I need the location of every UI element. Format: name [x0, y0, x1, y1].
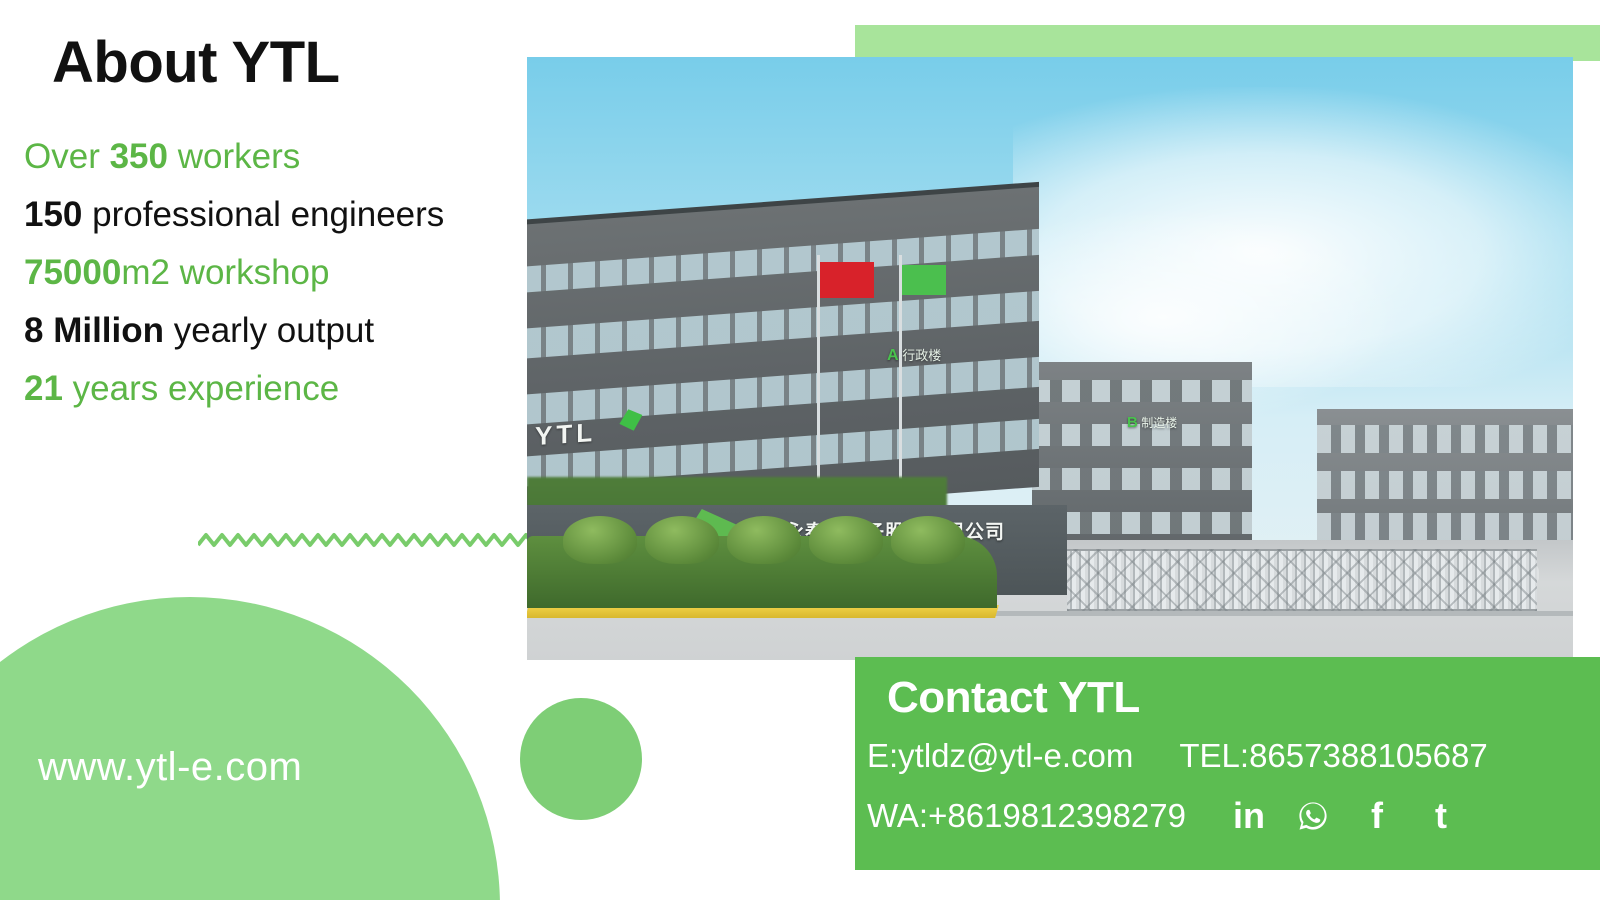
stat-prefix: Over — [24, 137, 110, 176]
tiktok-icon[interactable]: t — [1422, 797, 1460, 835]
building-a-administration — [527, 187, 1039, 525]
window-row — [1317, 471, 1573, 499]
window-row — [527, 357, 1039, 425]
facebook-icon[interactable]: f — [1358, 797, 1396, 835]
stat-number: 350 — [110, 137, 168, 176]
stat-item-workers: Over 350 workers — [24, 128, 544, 186]
retractable-gate-lattice — [1067, 549, 1537, 611]
building-a-label: 行政楼 — [902, 348, 941, 363]
building-b-mark: B — [1127, 414, 1138, 431]
stat-item-engineers: 150 professional engineers — [24, 186, 544, 244]
contact-email[interactable]: E:ytldz@ytl-e.com — [867, 737, 1133, 775]
window-row — [1317, 513, 1573, 541]
stat-suffix: yearly output — [164, 311, 374, 350]
page-title: About YTL — [52, 30, 340, 97]
stat-item-experience: 21 years experience — [24, 360, 544, 418]
window-row — [527, 291, 1039, 359]
website-url-label: www.ytl-e.com — [38, 745, 302, 790]
contact-row-email-tel: E:ytldz@ytl-e.com TEL:8657388105687 — [867, 737, 1597, 775]
building-b-label: 制造楼 — [1141, 416, 1177, 430]
building-far-right — [1317, 409, 1573, 559]
building-a-mark: A — [887, 347, 899, 364]
bush — [891, 516, 965, 564]
stat-item-workshop: 75000m2 workshop — [24, 244, 544, 302]
stat-number: 75000 — [24, 253, 121, 292]
china-flag-icon — [820, 262, 874, 298]
bush — [727, 516, 801, 564]
zigzag-divider-icon — [198, 527, 536, 551]
company-flag-icon — [902, 265, 946, 295]
linkedin-icon[interactable]: in — [1230, 797, 1268, 835]
building-a-sign: A 行政楼 — [887, 345, 941, 365]
window-row — [1317, 425, 1573, 453]
bush — [563, 516, 637, 564]
stat-item-output: 8 Million yearly output — [24, 302, 544, 360]
contact-telephone[interactable]: TEL:8657388105687 — [1179, 737, 1487, 775]
window-row — [1032, 380, 1252, 402]
contact-heading: Contact YTL — [887, 673, 1140, 723]
contact-whatsapp[interactable]: WA:+8619812398279 — [867, 797, 1186, 835]
stat-suffix: years experience — [63, 369, 339, 408]
factory-photo: B 制造楼 YTL A 行政楼 浙江永泰隆电子股份有限公司 ZHEJIANG Y… — [527, 57, 1573, 660]
about-stats-list: Over 350 workers 150 professional engine… — [24, 128, 544, 418]
social-links: in f t — [1230, 797, 1460, 835]
stat-number: 150 — [24, 195, 82, 234]
stat-suffix: professional engineers — [82, 195, 444, 234]
poster-canvas: About YTL Over 350 workers 150 professio… — [0, 0, 1600, 900]
small-green-circle-decoration — [520, 698, 642, 820]
contact-row-whatsapp-socials: WA:+8619812398279 in f t — [867, 797, 1597, 835]
building-b-sign: B 制造楼 — [1127, 414, 1177, 431]
stat-number: 21 — [24, 369, 63, 408]
bush — [809, 516, 883, 564]
roof-logo-text: YTL — [535, 417, 596, 452]
stat-suffix: workers — [168, 137, 300, 176]
window-row — [527, 229, 1039, 293]
top-accent-bar — [855, 25, 1600, 61]
stat-suffix: m2 workshop — [121, 253, 329, 292]
stat-number: 8 Million — [24, 311, 164, 350]
whatsapp-icon[interactable] — [1294, 797, 1332, 835]
window-row — [1032, 468, 1252, 490]
bush — [645, 516, 719, 564]
contact-panel: Contact YTL E:ytldz@ytl-e.com TEL:865738… — [855, 657, 1600, 870]
